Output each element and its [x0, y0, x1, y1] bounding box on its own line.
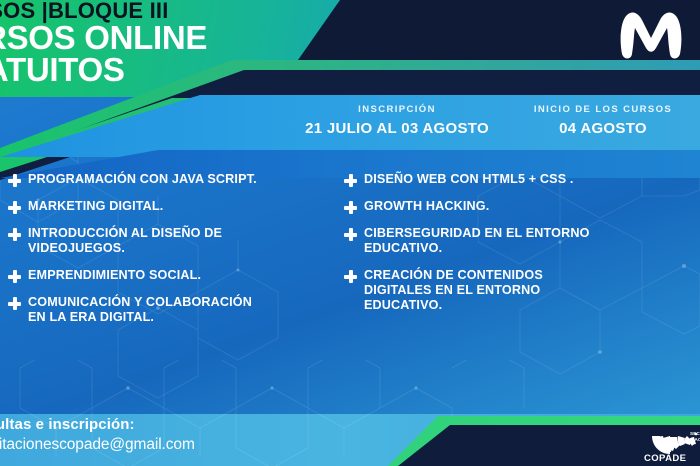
course-item: CREACIÓN DE CONTENIDOS DIGITALES EN EL E… [344, 268, 694, 313]
course-item: GROWTH HACKING. [344, 199, 694, 214]
course-item-label: MARKETING DIGITAL. [28, 199, 163, 214]
start-date-column: INICIO DE LOS CURSOS 04 AGOSTO [514, 104, 692, 137]
inscription-label: INSCRIPCIÓN [288, 104, 506, 115]
course-item: INTRODUCCIÓN AL DISEÑO DE VIDEOJUEGOS. [8, 226, 338, 256]
contact-label: Consultas e inscripción: [0, 416, 378, 433]
plus-icon [8, 174, 21, 187]
page-title: CURSOS ONLINE GRATUITOS [0, 22, 207, 86]
course-item: COMUNICACIÓN Y COLABORACIÓN EN LA ERA DI… [8, 295, 338, 325]
contact-email[interactable]: capacitacionescopade@gmail.com [0, 436, 378, 454]
course-item-label: EMPRENDIMIENTO SOCIAL. [28, 268, 201, 283]
course-list: PROGRAMACIÓN CON JAVA SCRIPT.MARKETING D… [0, 172, 700, 372]
plus-icon [344, 270, 357, 283]
course-column-right: DISEÑO WEB CON HTML5 + CSS .GROWTH HACKI… [344, 172, 694, 325]
poster-canvas: CURSOS |BLOQUE III CURSOS ONLINE GRATUIT… [0, 0, 700, 466]
plus-icon [8, 201, 21, 214]
dates-band: INSCRIPCIÓN 21 JULIO AL 03 AGOSTO INICIO… [280, 96, 700, 152]
course-item-label: CREACIÓN DE CONTENIDOS DIGITALES EN EL E… [364, 268, 543, 313]
course-item-label: COMUNICACIÓN Y COLABORACIÓN EN LA ERA DI… [28, 295, 252, 325]
plus-icon [344, 201, 357, 214]
course-item-label: PROGRAMACIÓN CON JAVA SCRIPT. [28, 172, 257, 187]
plus-icon [8, 228, 21, 241]
plus-icon [8, 297, 21, 310]
start-label: INICIO DE LOS CURSOS [514, 104, 692, 115]
course-item: PROGRAMACIÓN CON JAVA SCRIPT. [8, 172, 338, 187]
course-item-label: INTRODUCCIÓN AL DISEÑO DE VIDEOJUEGOS. [28, 226, 222, 256]
inscription-date-column: INSCRIPCIÓN 21 JULIO AL 03 AGOSTO [288, 104, 506, 137]
movistar-logo-icon [612, 4, 690, 64]
course-item-label: GROWTH HACKING. [364, 199, 489, 214]
start-value: 04 AGOSTO [514, 120, 692, 137]
course-column-left: PROGRAMACIÓN CON JAVA SCRIPT.MARKETING D… [8, 172, 338, 337]
copade-subtitle: SECRETARÍA Y ACCESO [690, 431, 700, 443]
course-item: CIBERSEGURIDAD EN EL ENTORNO EDUCATIVO. [344, 226, 694, 256]
plus-icon [344, 174, 357, 187]
course-item: EMPRENDIMIENTO SOCIAL. [8, 268, 338, 283]
course-item-label: DISEÑO WEB CON HTML5 + CSS . [364, 172, 574, 187]
copade-wordmark: COPADE [644, 453, 686, 464]
course-item: DISEÑO WEB CON HTML5 + CSS . [344, 172, 694, 187]
course-item: MARKETING DIGITAL. [8, 199, 338, 214]
plus-icon [344, 228, 357, 241]
inscription-value: 21 JULIO AL 03 AGOSTO [288, 120, 506, 137]
plus-icon [8, 270, 21, 283]
contact-block: Consultas e inscripción: capacitacionesc… [0, 416, 378, 454]
course-item-label: CIBERSEGURIDAD EN EL ENTORNO EDUCATIVO. [364, 226, 590, 256]
